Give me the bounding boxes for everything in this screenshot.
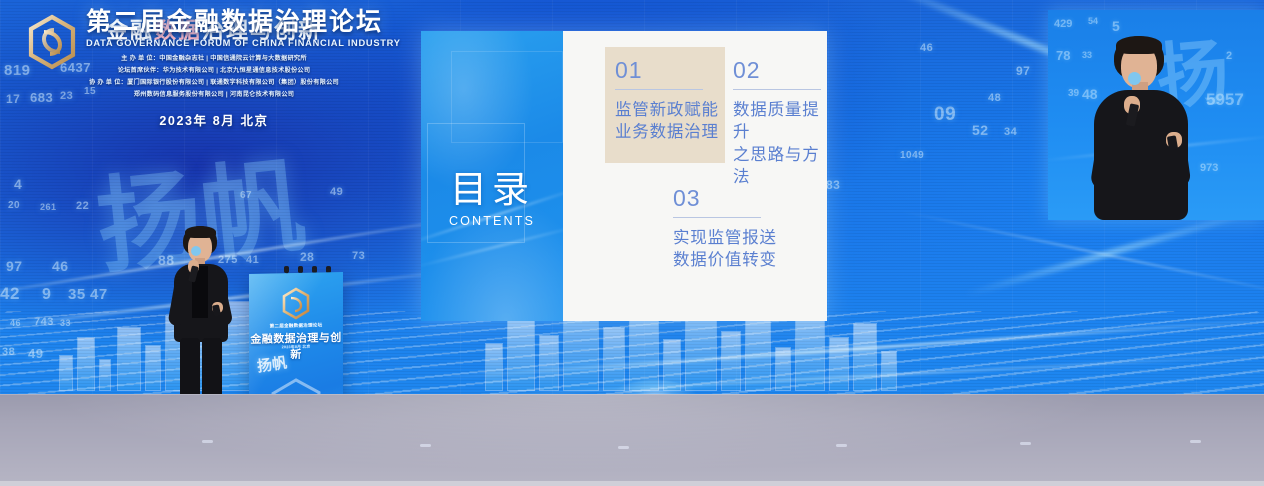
toc-item-02: 02 数据质量提升 之思路与方法: [733, 59, 827, 188]
floor-marker: [202, 440, 213, 443]
toc-item-rule: [733, 89, 821, 90]
toc-item-text: 数据质量提升 之思路与方法: [733, 99, 827, 188]
event-key-visual: 第二届金融数据治理论坛 DATA GOVERNANCE FORUM OF CHI…: [18, 6, 410, 172]
microphone-head-icon: [1128, 72, 1141, 85]
stage-speaker-fringe: [185, 226, 216, 238]
slide-contents-panel: 目录 CONTENTS: [421, 31, 563, 321]
organizer-line: 协 办 单 位：厦门国际银行股份有限公司 | 联通数字科技有限公司（集团）股份有…: [18, 77, 410, 89]
slide-contents-title-cn: 目录: [421, 171, 563, 208]
toc-item-rule: [673, 217, 761, 218]
event-title-en: DATA GOVERNANCE FORUM OF CHINA FINANCIAL…: [86, 38, 410, 48]
floor-marker: [1190, 440, 1201, 443]
toc-item-text: 实现监管报送 数据价值转变: [673, 227, 777, 272]
forum-logo-icon: [26, 14, 78, 70]
toc-item-number: 03: [673, 187, 777, 210]
floor-marker: [836, 444, 847, 447]
event-title-block: 第二届金融数据治理论坛 DATA GOVERNANCE FORUM OF CHI…: [86, 8, 410, 48]
stage-floor: [0, 394, 1264, 486]
slide-contents-title: 目录 CONTENTS: [421, 171, 563, 228]
event-date-location: 2023年 8月 北京: [18, 110, 410, 129]
floor-marker: [618, 446, 629, 449]
stage-microphone-head-icon: [191, 246, 201, 256]
event-title-cn: 第二届金融数据治理论坛: [86, 8, 410, 36]
speaker-closeup-figure: [1048, 10, 1264, 220]
organizer-line: 郑州数码信息服务股份有限公司 | 河南昆仑技术有限公司: [18, 89, 410, 101]
toc-item-number: 02: [733, 59, 827, 82]
speaker-fringe: [1116, 36, 1162, 54]
podium-mic-head-icon: [284, 266, 289, 273]
toc-item-number: 01: [615, 59, 719, 82]
floor-seam-line: [0, 394, 1264, 395]
floor-front-edge: [0, 481, 1264, 486]
conference-stage-photo: 扬帆 819 6437 17 683 23 15 4 20 261 22 97 …: [0, 0, 1264, 486]
presentation-slide: 目录 CONTENTS 01 监管新政赋能 业务数据治理 02 数据质量提升 之…: [421, 31, 827, 321]
floor-light-sheen: [0, 394, 1264, 486]
floor-marker: [420, 444, 431, 447]
slide-toc-panel: 01 监管新政赋能 业务数据治理 02 数据质量提升 之思路与方法 03 实现监…: [563, 31, 827, 321]
floor-marker: [1020, 442, 1031, 445]
podium-forum-logo-icon: [281, 287, 311, 321]
speaker-closeup-video-panel: 扬 429 54 5 78 33 2 39 48 5957 973: [1048, 10, 1264, 220]
toc-item-01: 01 监管新政赋能 业务数据治理: [615, 59, 719, 144]
slide-contents-title-en: CONTENTS: [421, 214, 563, 228]
toc-item-text: 监管新政赋能 业务数据治理: [615, 99, 719, 144]
toc-item-rule: [615, 89, 703, 90]
slide-panel-decor-rect: [451, 51, 563, 143]
toc-item-03: 03 实现监管报送 数据价值转变: [673, 187, 777, 272]
